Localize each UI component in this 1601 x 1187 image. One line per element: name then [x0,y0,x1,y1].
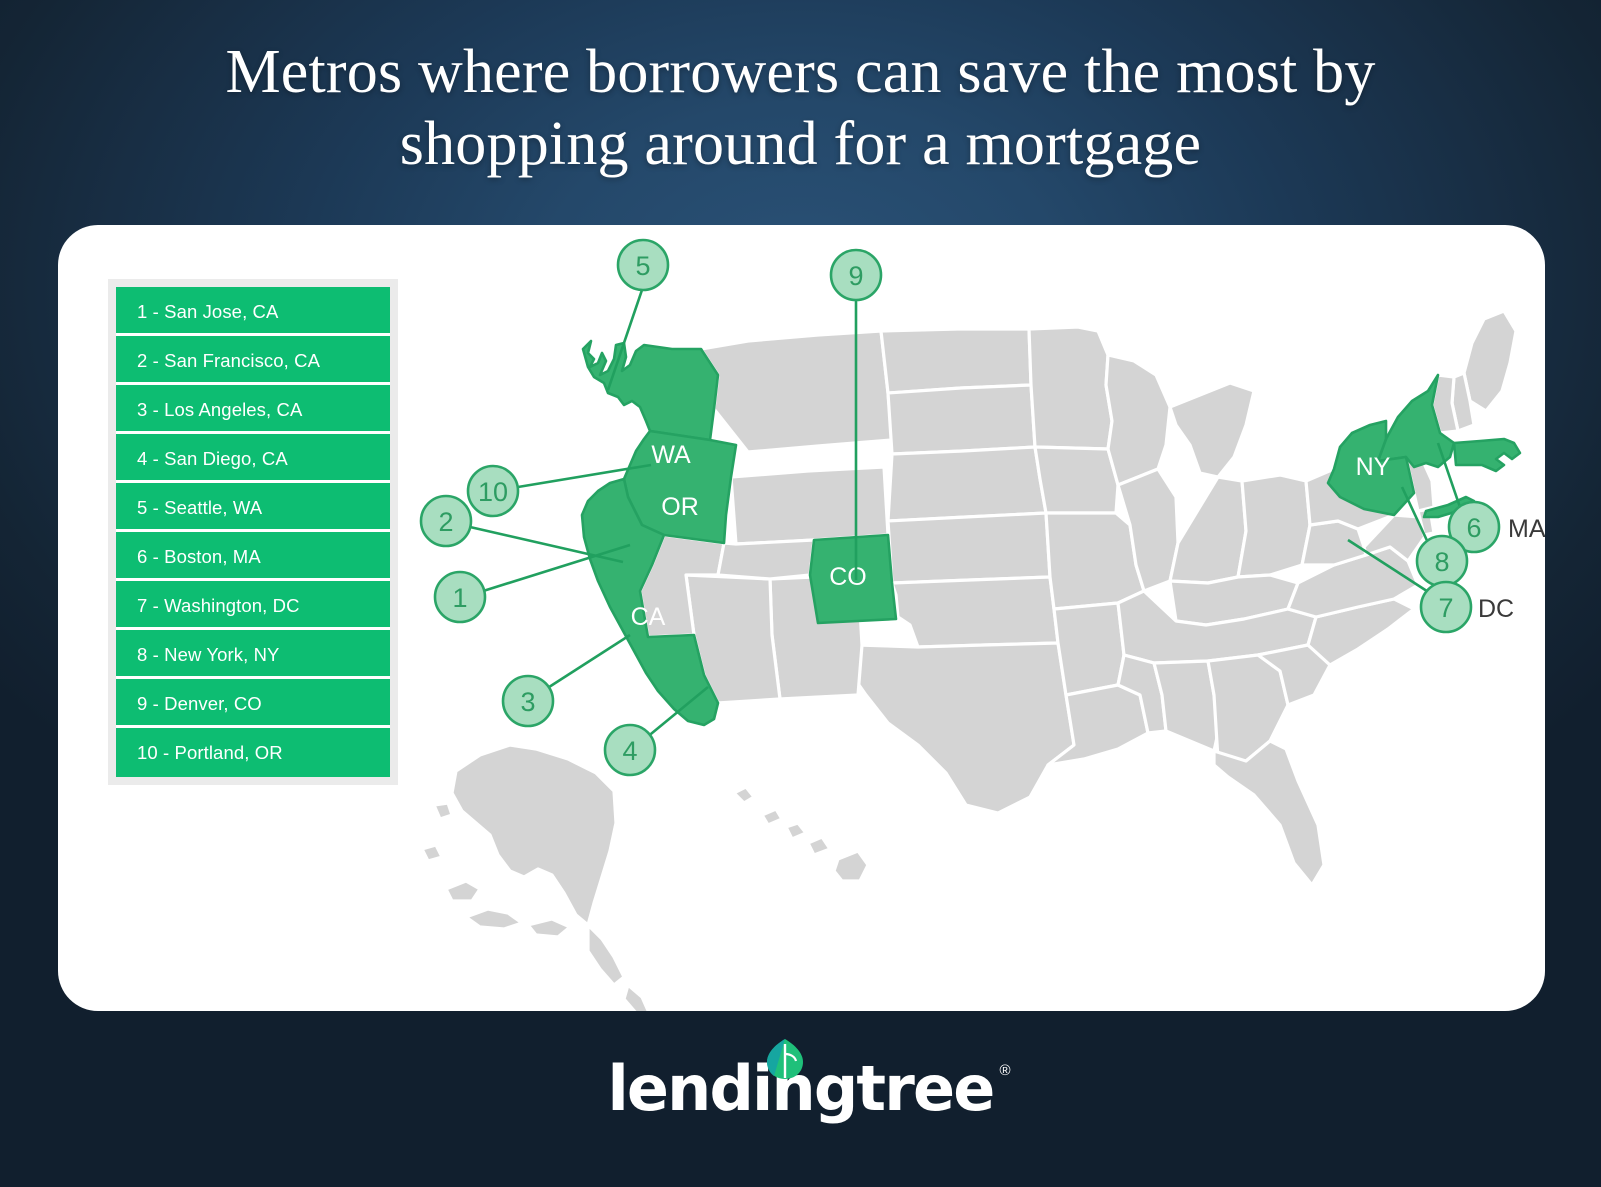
us-map: WA OR CA CO NY 5 [418,225,1545,1011]
state-wa [583,341,718,440]
legend-item-8[interactable]: 8 - New York, NY [116,630,390,679]
legend-panel: 1 - San Jose, CA 2 - San Francisco, CA 3… [108,279,398,785]
pin-label-5: 5 [635,251,650,281]
state-label-ca: CA [631,603,666,631]
pin-label-9: 9 [848,261,863,291]
legend-item-5[interactable]: 5 - Seattle, WA [116,483,390,532]
pin-3[interactable]: 3 [503,676,553,726]
pin-label-10: 10 [478,477,508,507]
pin-5[interactable]: 5 [618,240,668,290]
alaska [422,745,650,1011]
map-svg: WA OR CA CO NY 5 [418,225,1545,1011]
legend-item-3[interactable]: 3 - Los Angeles, CA [116,385,390,434]
leaf-icon [765,1038,805,1080]
state-ma [1454,439,1520,471]
state-label-ny: NY [1356,453,1391,481]
state-label-wa: WA [651,441,691,469]
legend-item-2[interactable]: 2 - San Francisco, CA [116,336,390,385]
lendingtree-logo: lendingtree ® [0,1044,1601,1134]
legend-item-10[interactable]: 10 - Portland, OR [116,728,390,777]
pin-label-7: 7 [1438,593,1453,623]
map-base-states [640,311,1516,885]
legend-item-1[interactable]: 1 - San Jose, CA [116,287,390,336]
map-outside-label-ma: MA [1508,515,1545,543]
pin-8[interactable]: 8 [1417,536,1467,586]
legend-item-7[interactable]: 7 - Washington, DC [116,581,390,630]
pin-label-1: 1 [452,583,467,613]
pin-label-2: 2 [438,507,453,537]
registered-trademark-icon: ® [999,1062,1010,1079]
page-title: Metros where borrowers can save the most… [0,36,1601,180]
map-outside-label-dc: DC [1478,595,1514,623]
pin-1[interactable]: 1 [435,572,485,622]
leader-line-3 [546,635,630,689]
legend-item-4[interactable]: 4 - San Diego, CA [116,434,390,483]
pin-10[interactable]: 10 [468,466,518,516]
pin-7[interactable]: 7 [1421,582,1471,632]
content-card: 1 - San Jose, CA 2 - San Francisco, CA 3… [58,225,1545,1011]
pin-label-3: 3 [520,687,535,717]
legend-list: 1 - San Jose, CA 2 - San Francisco, CA 3… [116,287,390,777]
hawaii [734,787,868,881]
state-label-co: CO [829,563,867,591]
pin-label-8: 8 [1434,547,1449,577]
pin-9[interactable]: 9 [831,250,881,300]
legend-item-6[interactable]: 6 - Boston, MA [116,532,390,581]
title-line-1: Metros where borrowers can save the most… [0,36,1601,108]
pin-2[interactable]: 2 [421,496,471,546]
state-label-or: OR [661,493,699,521]
title-line-2: shopping around for a mortgage [0,108,1601,180]
pin-label-4: 4 [622,736,637,766]
pin-4[interactable]: 4 [605,725,655,775]
legend-item-9[interactable]: 9 - Denver, CO [116,679,390,728]
pin-label-6: 6 [1466,513,1481,543]
